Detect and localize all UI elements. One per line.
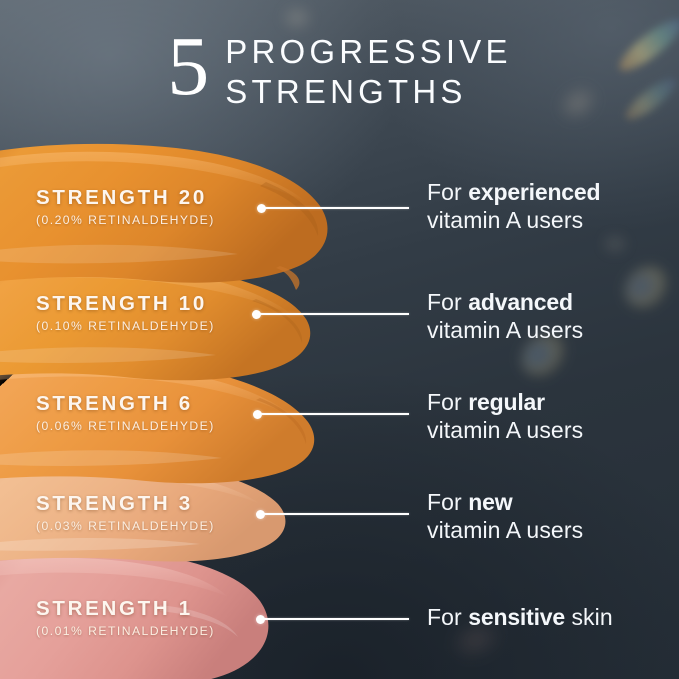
description-6-prefix: For: [427, 389, 468, 415]
connector-rule-6: [261, 413, 409, 415]
description-20-keyword: experienced: [468, 179, 600, 205]
strength-label-6: STRENGTH 6 (0.06% RETINALDEHYDE): [36, 392, 215, 433]
strength-title-3: STRENGTH 3: [36, 492, 215, 516]
connector-line-10: [252, 309, 409, 319]
strength-title-6: STRENGTH 6: [36, 392, 215, 416]
description-3-line-2: vitamin A users: [427, 516, 583, 544]
description-20-line-1: For experienced: [427, 178, 600, 206]
strength-concentration-10: (0.10% RETINALDEHYDE): [36, 319, 215, 333]
description-10-prefix: For: [427, 289, 468, 315]
description-6-line-1: For regular: [427, 388, 583, 416]
connector-rule-20: [265, 207, 409, 209]
description-10-keyword: advanced: [468, 289, 573, 315]
headline-line-1: PROGRESSIVE: [225, 32, 511, 72]
strength-concentration-1: (0.01% RETINALDEHYDE): [36, 624, 215, 638]
description-20-line-2: vitamin A users: [427, 206, 600, 234]
description-3-keyword: new: [468, 489, 512, 515]
header: 5 PROGRESSIVE STRENGTHS: [0, 0, 679, 112]
strength-concentration-20: (0.20% RETINALDEHYDE): [36, 213, 215, 227]
description-1: For sensitive skin: [427, 603, 613, 631]
connector-line-20: [257, 203, 409, 213]
description-3: For new vitamin A users: [427, 488, 583, 544]
connector-rule-3: [264, 513, 409, 515]
strength-label-3: STRENGTH 3 (0.03% RETINALDEHYDE): [36, 492, 215, 533]
bokeh-orb-3: [617, 258, 676, 316]
connector-line-1: [256, 614, 409, 624]
strength-title-10: STRENGTH 10: [36, 292, 215, 316]
strength-label-1: STRENGTH 1 (0.01% RETINALDEHYDE): [36, 597, 215, 638]
description-1-keyword: sensitive: [468, 604, 565, 630]
description-20-prefix: For: [427, 179, 468, 205]
connector-rule-10: [260, 313, 409, 315]
strength-title-20: STRENGTH 20: [36, 186, 215, 210]
strength-concentration-3: (0.03% RETINALDEHYDE): [36, 519, 215, 533]
description-10-line-2: vitamin A users: [427, 316, 583, 344]
connector-line-6: [253, 409, 409, 419]
headline-line-2: STRENGTHS: [225, 72, 511, 112]
description-1-line-1: For sensitive skin: [427, 603, 613, 631]
headline-number: 5: [167, 28, 209, 106]
description-3-line-1: For new: [427, 488, 583, 516]
connector-line-3: [256, 509, 409, 519]
strength-label-10: STRENGTH 10 (0.10% RETINALDEHYDE): [36, 292, 215, 333]
strength-label-20: STRENGTH 20 (0.20% RETINALDEHYDE): [36, 186, 215, 227]
connector-rule-1: [264, 618, 409, 620]
description-6-keyword: regular: [468, 389, 545, 415]
product-strength-infographic: 5 PROGRESSIVE STRENGTHS STRENGTH 20 (0.2…: [0, 0, 679, 679]
description-1-suffix: skin: [565, 604, 613, 630]
description-10-line-1: For advanced: [427, 288, 583, 316]
description-3-prefix: For: [427, 489, 468, 515]
strength-concentration-6: (0.06% RETINALDEHYDE): [36, 419, 215, 433]
description-6-line-2: vitamin A users: [427, 416, 583, 444]
bokeh-orb-5: [600, 232, 630, 256]
headline-words: PROGRESSIVE STRENGTHS: [225, 26, 511, 112]
description-20: For experienced vitamin A users: [427, 178, 600, 234]
description-1-prefix: For: [427, 604, 468, 630]
description-10: For advanced vitamin A users: [427, 288, 583, 344]
description-6: For regular vitamin A users: [427, 388, 583, 444]
strength-title-1: STRENGTH 1: [36, 597, 215, 621]
